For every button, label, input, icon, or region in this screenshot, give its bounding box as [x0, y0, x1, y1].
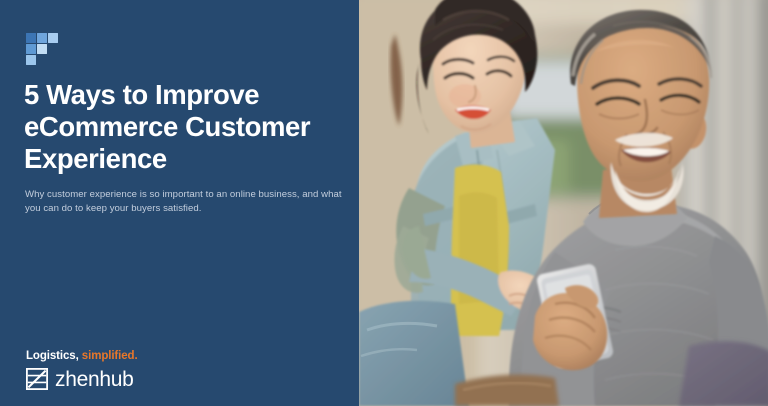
lifestyle-photo-illustration: [359, 0, 768, 406]
zhenhub-pixel-logo-icon: [26, 33, 60, 66]
tagline-primary-text: Logistics,: [26, 350, 79, 362]
logo-tile-2: [37, 33, 47, 43]
zhenhub-wordmark: zhenhub: [55, 369, 133, 390]
logo-tile-3: [48, 33, 58, 43]
zhenhub-logo-lockup: zhenhub: [26, 368, 326, 390]
logo-tile-4: [26, 44, 36, 54]
footer-branding: Logistics, simplified. zhenhub: [26, 350, 326, 390]
page-subtitle: Why customer experience is so important …: [25, 188, 345, 216]
brand-tagline: Logistics, simplified.: [26, 350, 326, 362]
blog-banner-graphic: 5 Ways to Improve eCommerce Customer Exp…: [0, 0, 768, 406]
page-title: 5 Ways to Improve eCommerce Customer Exp…: [24, 79, 342, 175]
zhenhub-square-diagonal-icon: [26, 368, 48, 390]
tagline-accent-text: simplified.: [82, 350, 138, 362]
logo-tile-1: [26, 33, 36, 43]
left-content-panel: 5 Ways to Improve eCommerce Customer Exp…: [0, 0, 359, 406]
lifestyle-photo: [359, 0, 768, 406]
logo-tile-6: [26, 55, 36, 65]
logo-tile-5: [37, 44, 47, 54]
